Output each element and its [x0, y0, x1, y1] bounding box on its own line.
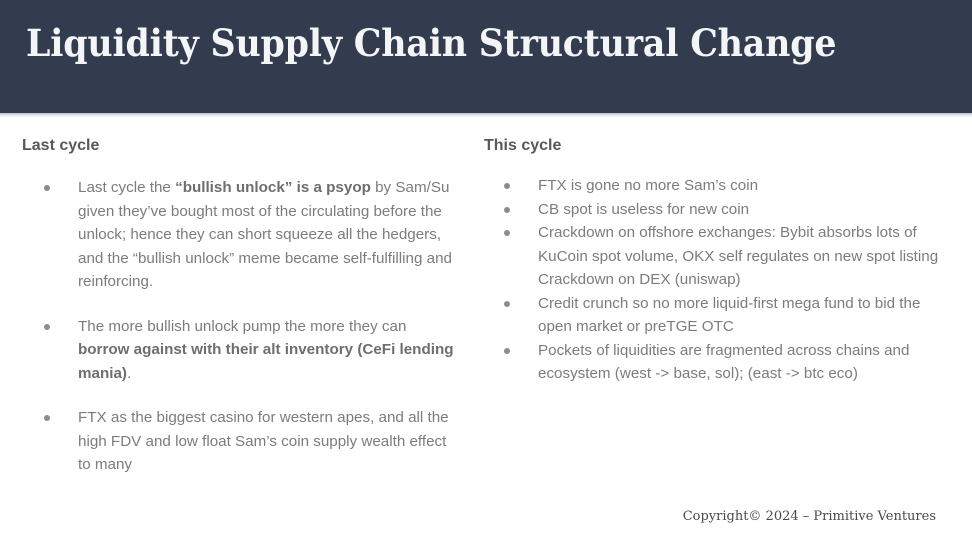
copyright-footer: Copyright© 2024 – Primitive Ventures — [683, 508, 936, 526]
list-item: FTX as the biggest casino for western ap… — [22, 406, 454, 477]
this-cycle-column: This cycle FTX is gone no more Sam’s coi… — [484, 136, 954, 386]
body-text: The more bullish unlock pump the more th… — [78, 318, 406, 335]
list-item: Last cycle the “bullish unlock” is a psy… — [22, 176, 454, 294]
list-item: Pockets of liquidities are fragmented ac… — [484, 339, 954, 386]
body-text: FTX as the biggest casino for western ap… — [78, 409, 449, 473]
list-item: FTX is gone no more Sam’s coin — [484, 174, 954, 198]
last-cycle-bullet-list: Last cycle the “bullish unlock” is a psy… — [22, 176, 454, 477]
body-text: Last cycle the — [78, 179, 175, 196]
body-text: Crackdown on offshore exchanges: Bybit a… — [538, 224, 938, 288]
emphasis-text: “bullish unlock” is a psyop — [175, 179, 371, 196]
this-cycle-bullet-list: FTX is gone no more Sam’s coinCB spot is… — [484, 174, 954, 386]
slide: Liquidity Supply Chain Structural Change… — [0, 0, 972, 538]
list-item: Crackdown on offshore exchanges: Bybit a… — [484, 221, 954, 292]
list-item: The more bullish unlock pump the more th… — [22, 315, 454, 386]
emphasis-text: borrow against with their alt inventory … — [78, 341, 454, 382]
body-text: Credit crunch so no more liquid-first me… — [538, 295, 920, 336]
body-text: . — [127, 365, 131, 382]
header-divider — [0, 113, 972, 118]
this-cycle-heading: This cycle — [484, 136, 954, 156]
list-item: CB spot is useless for new coin — [484, 198, 954, 222]
body-text: CB spot is useless for new coin — [538, 201, 749, 218]
body-text: FTX is gone no more Sam’s coin — [538, 177, 758, 194]
list-item: Credit crunch so no more liquid-first me… — [484, 292, 954, 339]
last-cycle-heading: Last cycle — [22, 136, 454, 156]
page-title: Liquidity Supply Chain Structural Change — [26, 20, 836, 66]
body-text: Pockets of liquidities are fragmented ac… — [538, 342, 909, 383]
title-banner: Liquidity Supply Chain Structural Change — [0, 0, 972, 113]
last-cycle-column: Last cycle Last cycle the “bullish unloc… — [22, 136, 454, 477]
